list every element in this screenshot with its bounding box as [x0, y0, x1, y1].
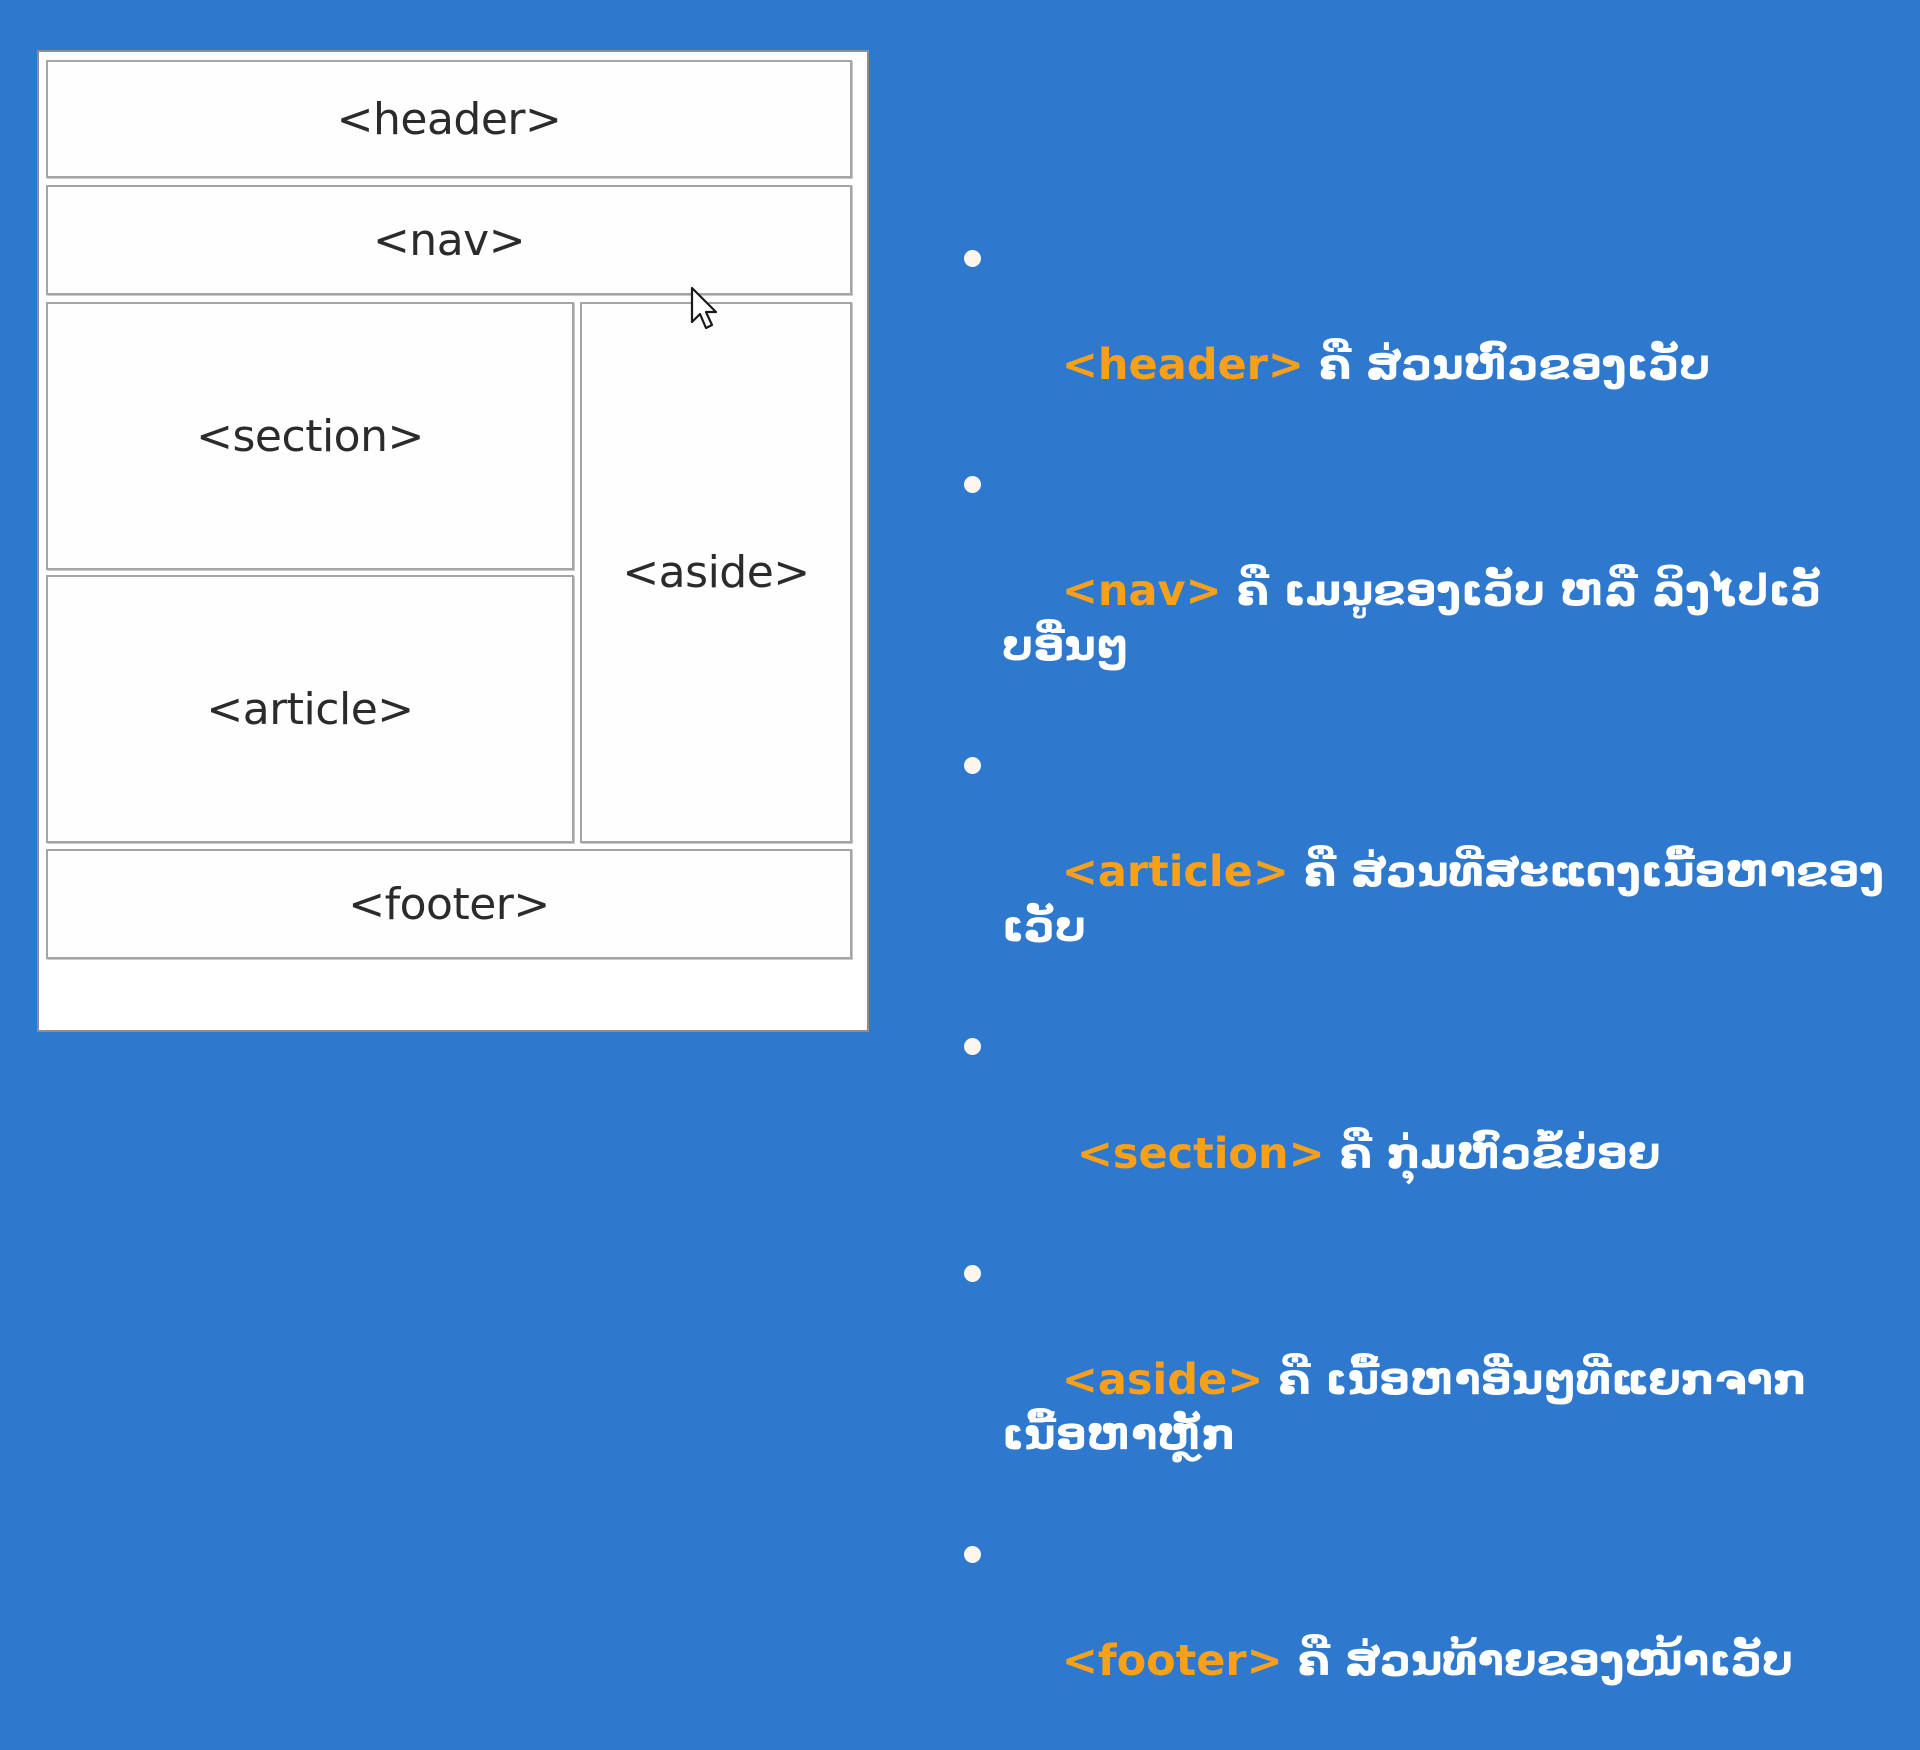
bullet-dot-icon — [964, 1038, 981, 1055]
bullet-dot-icon — [964, 476, 981, 493]
bullet-dot-icon — [964, 1265, 981, 1282]
diagram-box-footer-label: <footer> — [348, 879, 549, 930]
diagram-box-header-label: <header> — [337, 94, 562, 145]
bullet-desc-header: ຄື ສ່ວນຫົວຂອງເວັບ — [1304, 340, 1711, 390]
html5-layout-diagram: <header> <nav> <section> <article> <asid… — [30, 40, 876, 1040]
list-item: <header> ຄື ສ່ວນຫົວຂອງເວັບ — [940, 228, 1900, 448]
bullet-dot-icon — [964, 1546, 981, 1563]
bullet-tag-aside: <aside> — [1062, 1355, 1263, 1405]
bullet-dot-icon — [964, 250, 981, 267]
bullet-tag-article: <article> — [1062, 847, 1289, 897]
list-item: <article> ຄື ສ່ວນທີ່ສະແດງເນື້ອຫາຂອງເວັບ — [940, 735, 1900, 1010]
bullet-tag-header: <header> — [1062, 340, 1304, 390]
diagram-box-section-label: <section> — [196, 411, 424, 462]
bullet-tag-nav: <nav> — [1062, 566, 1222, 616]
diagram-box-section: <section> — [46, 302, 574, 570]
list-item: <nav> ຄື ເມນູຂອງເວັບ ຫລື ລິງໄປເວັບອື່ນໆ — [940, 454, 1900, 729]
diagram-outer-frame: <header> <nav> <section> <article> <asid… — [37, 50, 869, 1032]
bullet-desc-section: ຄື ກຸ່ມຫົວຂໍ້ຍ່ອຍ — [1325, 1129, 1661, 1179]
list-item: <aside> ຄື ເນື້ອຫາອື່ນໆທີ່ແຍກຈາກເນື້ອຫາຫ… — [940, 1243, 1900, 1518]
diagram-box-aside-label: <aside> — [622, 547, 809, 598]
diagram-box-nav-label: <nav> — [373, 215, 525, 266]
list-item: <footer> ຄື ສ່ວນທ້າຍຂອງໜ້າເວັບ — [940, 1524, 1900, 1744]
diagram-box-aside: <aside> — [580, 302, 852, 843]
diagram-box-header: <header> — [46, 60, 852, 178]
semantic-tag-description-list: <header> ຄື ສ່ວນຫົວຂອງເວັບ <nav> ຄື ເມນູ… — [940, 228, 1900, 1750]
diagram-box-nav: <nav> — [46, 185, 852, 295]
diagram-box-footer: <footer> — [46, 849, 852, 959]
diagram-box-article-label: <article> — [206, 684, 413, 735]
list-item: <section> ຄື ກຸ່ມຫົວຂໍ້ຍ່ອຍ — [940, 1016, 1900, 1236]
bullet-desc-footer: ຄື ສ່ວນທ້າຍຂອງໜ້າເວັບ — [1283, 1636, 1794, 1686]
bullet-tag-footer: <footer> — [1062, 1636, 1283, 1686]
bullet-tag-section: <section> — [1062, 1129, 1325, 1179]
diagram-box-article: <article> — [46, 575, 574, 843]
bullet-dot-icon — [964, 757, 981, 774]
